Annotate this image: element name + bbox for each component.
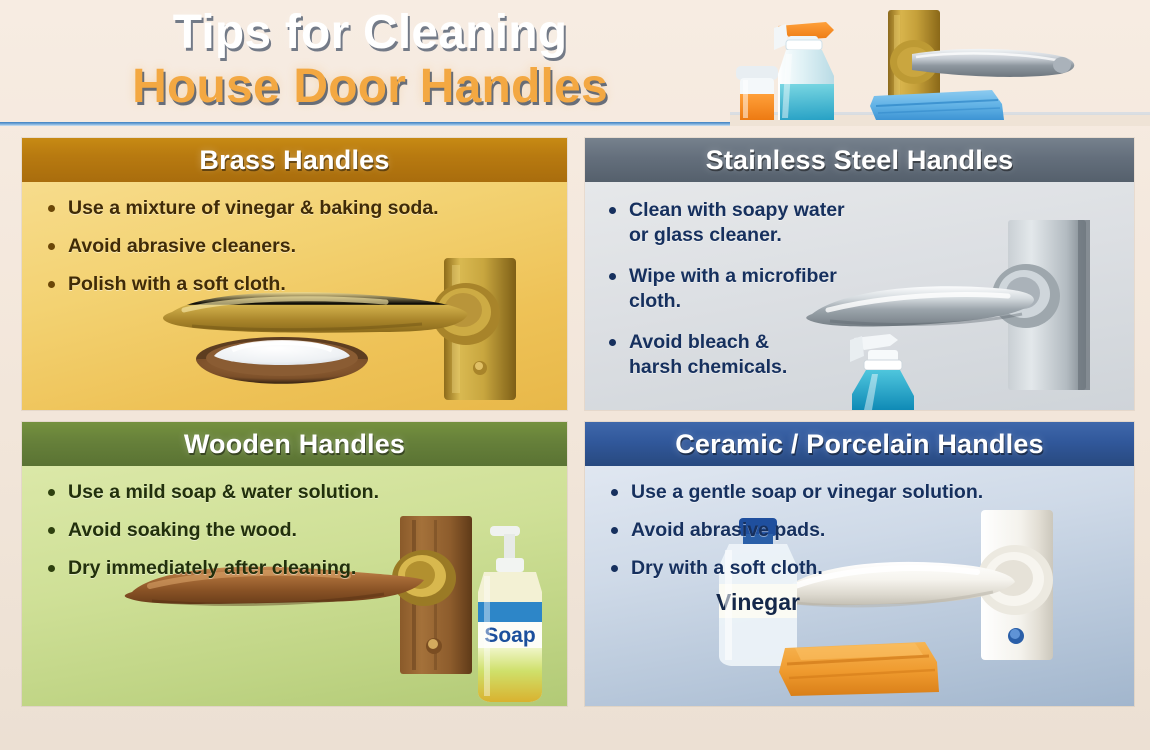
tip-item: Use a mixture of vinegar & baking soda. — [46, 196, 551, 221]
tip-item: Avoid bleach & harsh chemicals. — [607, 330, 1118, 380]
panel-ceramic-porcelain-handles[interactable]: Ceramic / Porcelain Handles Use a gentle… — [585, 422, 1134, 706]
panel-body-wood: Use a mild soap & water solution. Avoid … — [22, 466, 567, 706]
panel-header-brass: Brass Handles — [22, 138, 567, 182]
orange-cloth-icon — [779, 642, 939, 696]
page-title-line1: Tips for Cleaning — [0, 6, 740, 60]
panel-header-ceramic: Ceramic / Porcelain Handles — [585, 422, 1134, 466]
panel-grid: Brass Handles Use a mixture of vinegar &… — [0, 126, 1150, 750]
tip-item: Clean with soapy water or glass cleaner. — [607, 198, 1118, 248]
tip-item: Dry with a soft cloth. — [609, 556, 1118, 581]
tip-item: Use a gentle soap or vinegar solution. — [609, 480, 1118, 505]
panel-body-steel: Clean with soapy water or glass cleaner.… — [585, 182, 1134, 410]
panel-title-brass: Brass Handles — [199, 145, 389, 176]
page-title-line2: House Door Handles — [0, 60, 740, 114]
panel-brass-handles[interactable]: Brass Handles Use a mixture of vinegar &… — [22, 138, 567, 410]
tip-item: Use a mild soap & water solution. — [46, 480, 551, 505]
panel-title-wood: Wooden Handles — [184, 429, 405, 460]
vinegar-bottle-label: Vinegar — [716, 589, 800, 615]
panel-header-wood: Wooden Handles — [22, 422, 567, 466]
panel-body-brass: Use a mixture of vinegar & baking soda. … — [22, 182, 567, 410]
header-banner: Tips for Cleaning House Door Handles — [0, 0, 1150, 126]
panel-stainless-steel-handles[interactable]: Stainless Steel Handles Clean with soapy… — [585, 138, 1134, 410]
panel-wooden-handles[interactable]: Wooden Handles Use a mild soap & water s… — [22, 422, 567, 706]
tip-item: Avoid abrasive cleaners. — [46, 234, 551, 259]
panel-title-steel: Stainless Steel Handles — [706, 145, 1014, 176]
header-illustration — [730, 0, 1150, 126]
tip-item: Polish with a soft cloth. — [46, 272, 551, 297]
header-jar-icon — [736, 66, 778, 120]
infographic-poster: Tips for Cleaning House Door Handles — [0, 0, 1150, 750]
tip-item: Dry immediately after cleaning. — [46, 556, 551, 581]
header-spray-bottle-icon — [774, 22, 834, 120]
soap-bottle-label: Soap — [484, 624, 535, 647]
tip-item: Avoid soaking the wood. — [46, 518, 551, 543]
panel-header-steel: Stainless Steel Handles — [585, 138, 1134, 182]
tips-list-ceramic: Use a gentle soap or vinegar solution. A… — [585, 466, 1134, 581]
tips-list-brass: Use a mixture of vinegar & baking soda. … — [22, 182, 567, 297]
title-block: Tips for Cleaning House Door Handles — [0, 6, 740, 114]
tips-list-steel: Clean with soapy water or glass cleaner.… — [585, 182, 1134, 380]
tips-list-wood: Use a mild soap & water solution. Avoid … — [22, 466, 567, 581]
panel-title-ceramic: Ceramic / Porcelain Handles — [675, 429, 1044, 460]
tip-item: Avoid abrasive pads. — [609, 518, 1118, 543]
tip-item: Wipe with a microfiber cloth. — [607, 264, 1118, 314]
panel-body-ceramic: Use a gentle soap or vinegar solution. A… — [585, 466, 1134, 706]
